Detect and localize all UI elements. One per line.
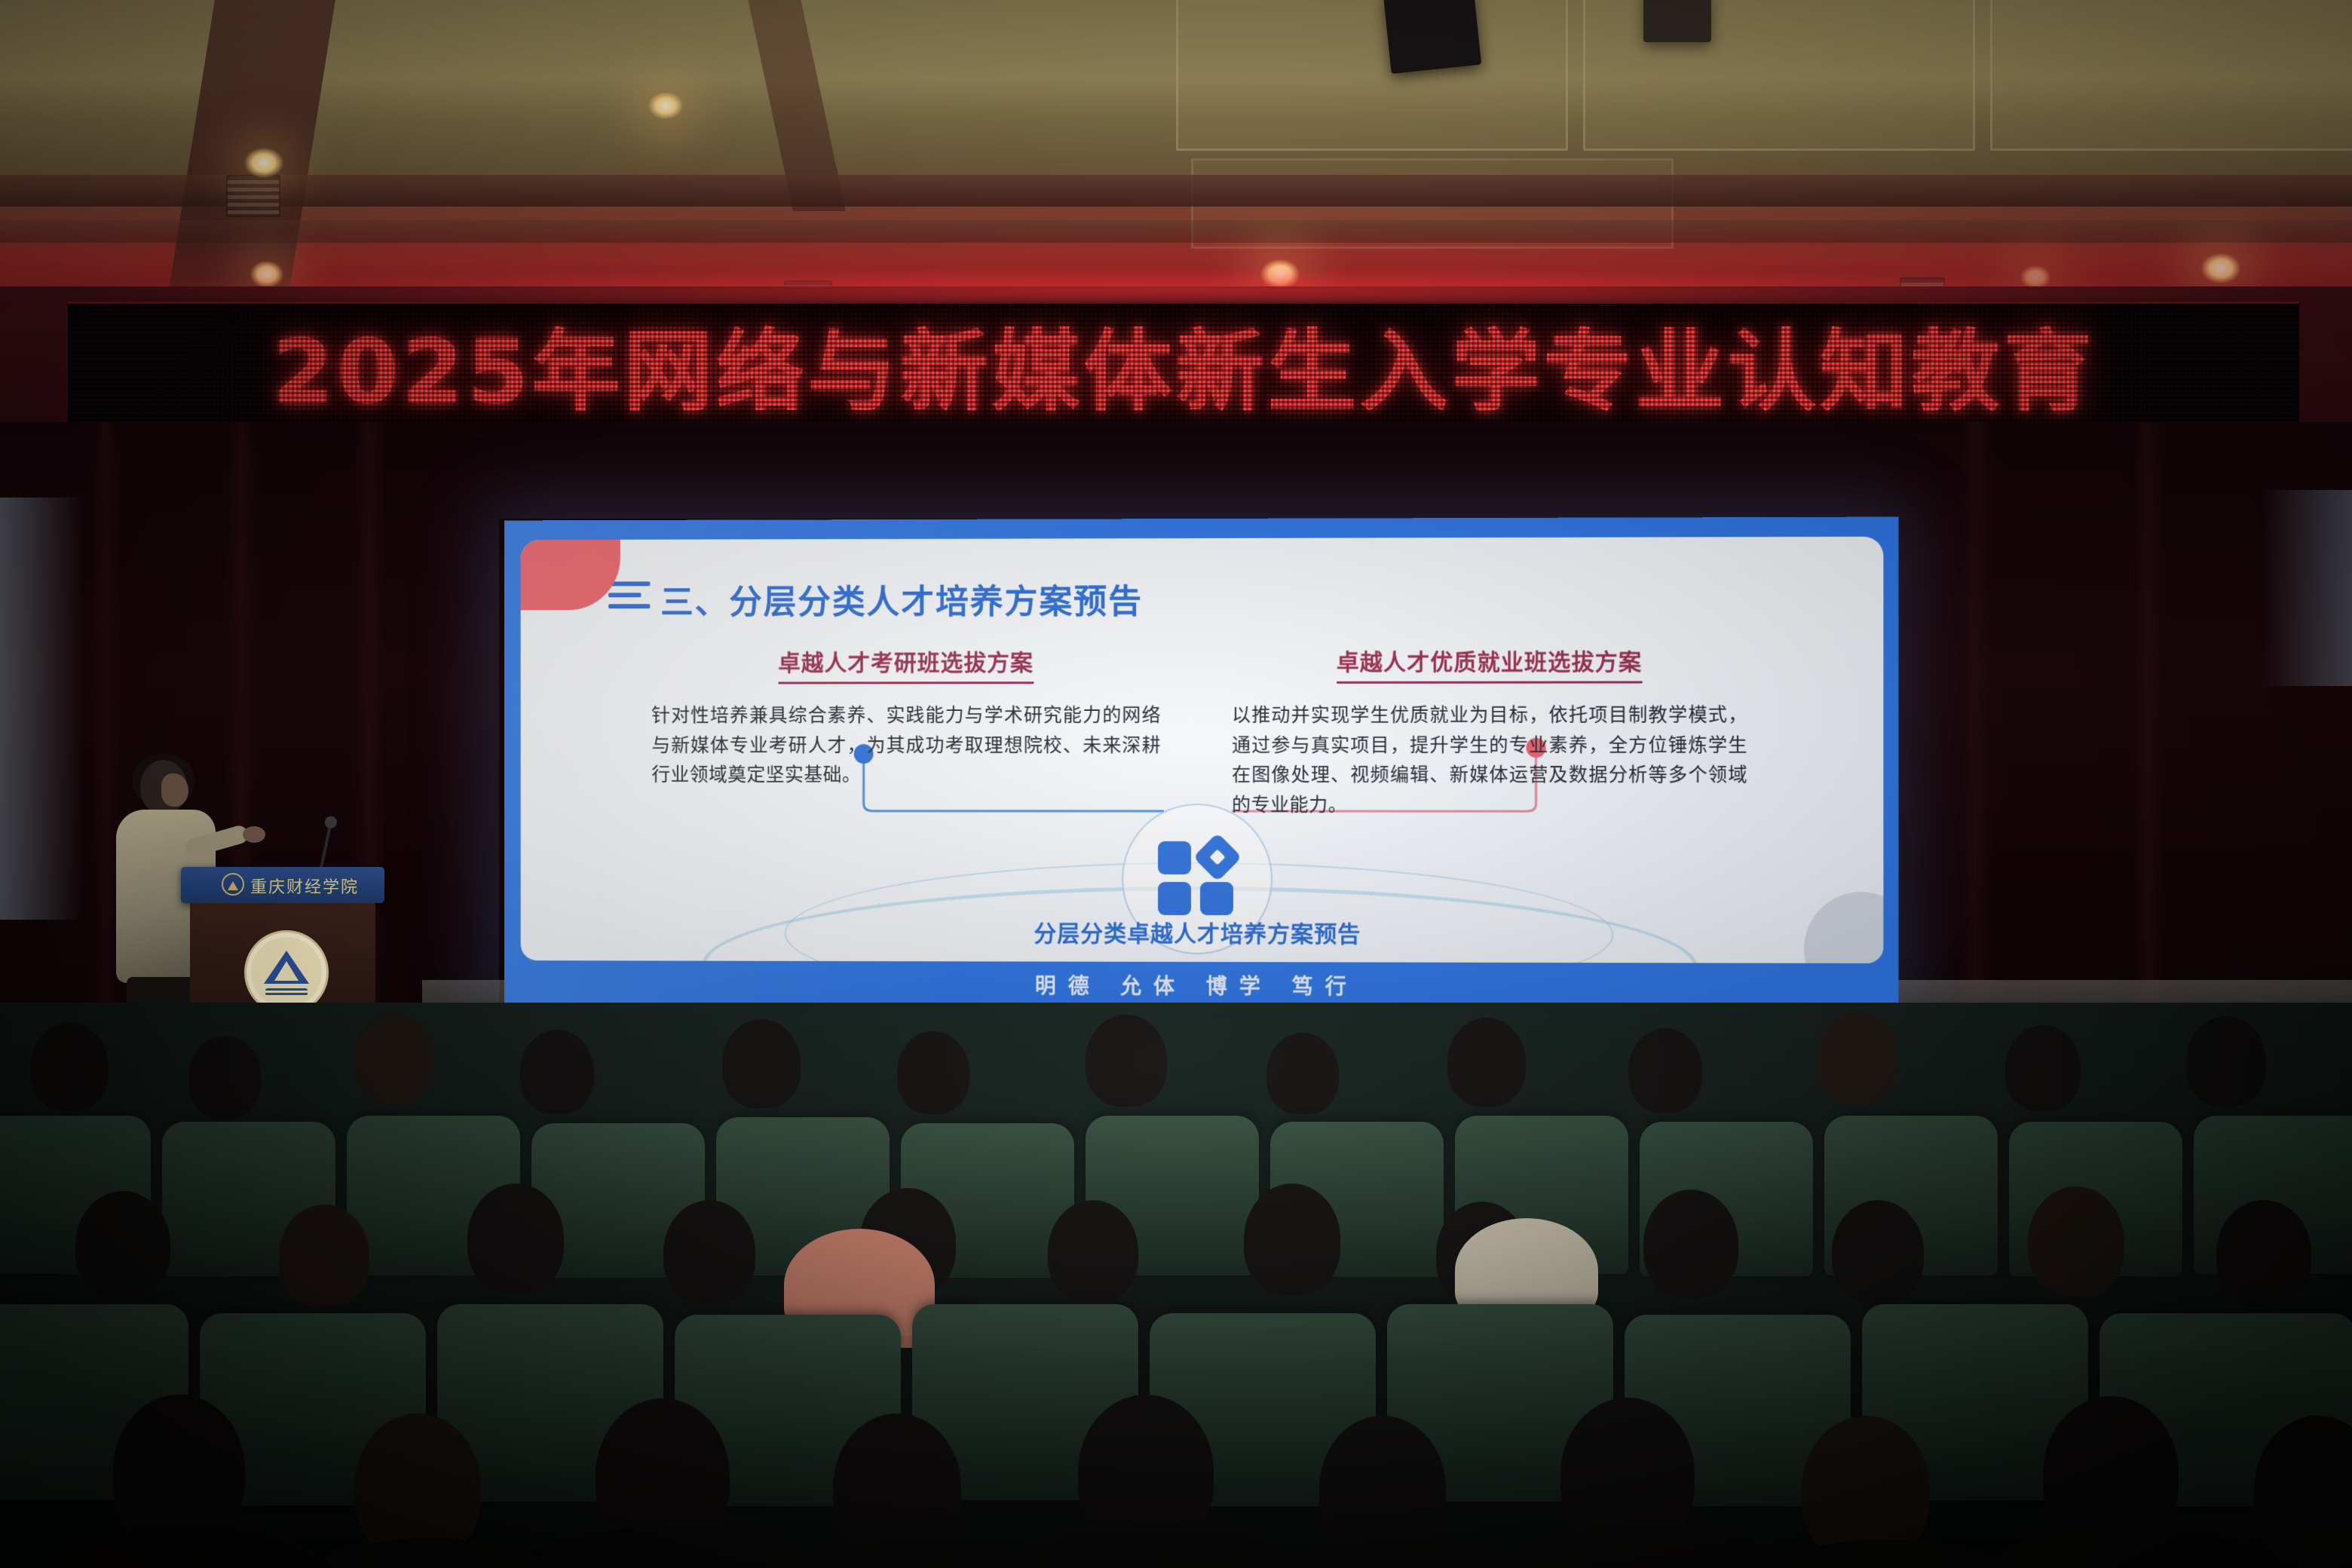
audience-head: [1628, 1028, 1702, 1113]
ceiling: [0, 0, 2352, 302]
audience-shoulders: [784, 1539, 1040, 1568]
podium-institution-name: 重庆财经学院: [250, 874, 359, 898]
audience-head: [2216, 1200, 2311, 1306]
audience-shoulders: [1756, 1539, 2013, 1568]
column-heading-postgrad: 卓越人才考研班选拔方案: [778, 644, 1034, 684]
audience-head: [2186, 1016, 2266, 1107]
school-motto: 明德 允体 博学 笃行: [1035, 970, 1358, 1001]
center-caption: 分层分类卓越人才培养方案预告: [1034, 915, 1361, 949]
ceiling-speaker-box: [1383, 0, 1481, 74]
podium-nameplate: 重庆财经学院: [181, 867, 384, 903]
audience-head: [722, 1019, 801, 1108]
ceiling-downlight: [244, 148, 283, 178]
presenter-face: [161, 773, 188, 807]
slide-content-panel: 三、分层分类人才培养方案预告 卓越人才考研班选拔方案 针对性培养兼具综合素养、实…: [521, 537, 1884, 963]
four-blocks-icon: [1158, 841, 1236, 917]
column-body-employment: 以推动并实现学生优质就业为目标，依托项目制教学模式，通过参与真实项目，提升学生的…: [1232, 700, 1747, 820]
ceiling-panel: [1583, 0, 1975, 151]
right-wall-glow: [2262, 490, 2352, 686]
audience-shoulders: [1025, 1523, 1289, 1568]
audience-head: [1447, 1018, 1526, 1107]
school-emblem-mark: [259, 948, 314, 997]
audience-head: [1244, 1184, 1340, 1295]
audience-shoulders: [1274, 1539, 1530, 1568]
audience-head: [1817, 1012, 1898, 1105]
audience-head: [1048, 1200, 1138, 1303]
left-wall-glow: [0, 498, 83, 920]
audience-head: [1832, 1200, 1924, 1304]
audience-head: [188, 1036, 261, 1119]
audience-head: [354, 1013, 434, 1104]
column-employment: 卓越人才优质就业班选拔方案 以推动并实现学生优质就业为目标，依托项目制教学模式，…: [1232, 643, 1747, 819]
ceiling-band: [0, 175, 2352, 207]
audience-head: [1266, 1033, 1339, 1114]
ceiling-downlight: [648, 92, 683, 119]
audience-head: [897, 1031, 969, 1114]
audience-head: [2005, 1025, 2081, 1111]
curtain-fold: [1960, 422, 1990, 1048]
audience-shoulders: [1998, 1523, 2269, 1568]
audience-shoulders: [53, 1523, 317, 1568]
audience-head: [663, 1200, 755, 1304]
audience-area: [0, 1003, 2352, 1568]
audience-head: [1643, 1190, 1738, 1298]
projection-screen: 三、分层分类人才培养方案预告 卓越人才考研班选拔方案 针对性培养兼具综合素养、实…: [499, 519, 1894, 1009]
audience-shoulders: [1515, 1524, 1779, 1568]
presenter-hand: [243, 826, 265, 843]
column-postgrad: 卓越人才考研班选拔方案 针对性培养兼具综合素养、实践能力与学术研究能力的网络与新…: [651, 644, 1161, 789]
ceiling-speaker-box: [1643, 0, 1711, 42]
audience-head: [467, 1184, 564, 1294]
led-banner: 2025年网络与新媒体新生入学专业认知教育: [68, 302, 2299, 426]
led-banner-text: 2025年网络与新媒体新生入学专业认知教育: [272, 302, 2095, 426]
audience-shoulders: [543, 1524, 807, 1568]
school-logo-small-icon: [222, 873, 244, 896]
audience-head: [520, 1030, 594, 1114]
audience-head: [2028, 1187, 2124, 1297]
audience-head: [279, 1205, 369, 1307]
audience-shoulders: [302, 1538, 558, 1568]
audience-head: [75, 1191, 170, 1298]
column-body-postgrad: 针对性培养兼具综合素养、实践能力与学术研究能力的网络与新媒体专业考研人才，为其成…: [651, 700, 1161, 789]
auditorium-scene: 2025年网络与新媒体新生入学专业认知教育 三、分层分类人才培养方案预告: [0, 0, 2352, 1568]
column-heading-employment: 卓越人才优质就业班选拔方案: [1337, 643, 1642, 684]
ceiling-panel: [1990, 0, 2352, 151]
audience-head: [1086, 1015, 1167, 1107]
audience-head: [30, 1022, 109, 1111]
ceiling-vent: [226, 175, 280, 217]
presentation-slide: 三、分层分类人才培养方案预告 卓越人才考研班选拔方案 针对性培养兼具综合素养、实…: [504, 517, 1899, 1011]
curtain-fold: [2133, 422, 2164, 1048]
ceiling-panel: [1176, 0, 1568, 151]
